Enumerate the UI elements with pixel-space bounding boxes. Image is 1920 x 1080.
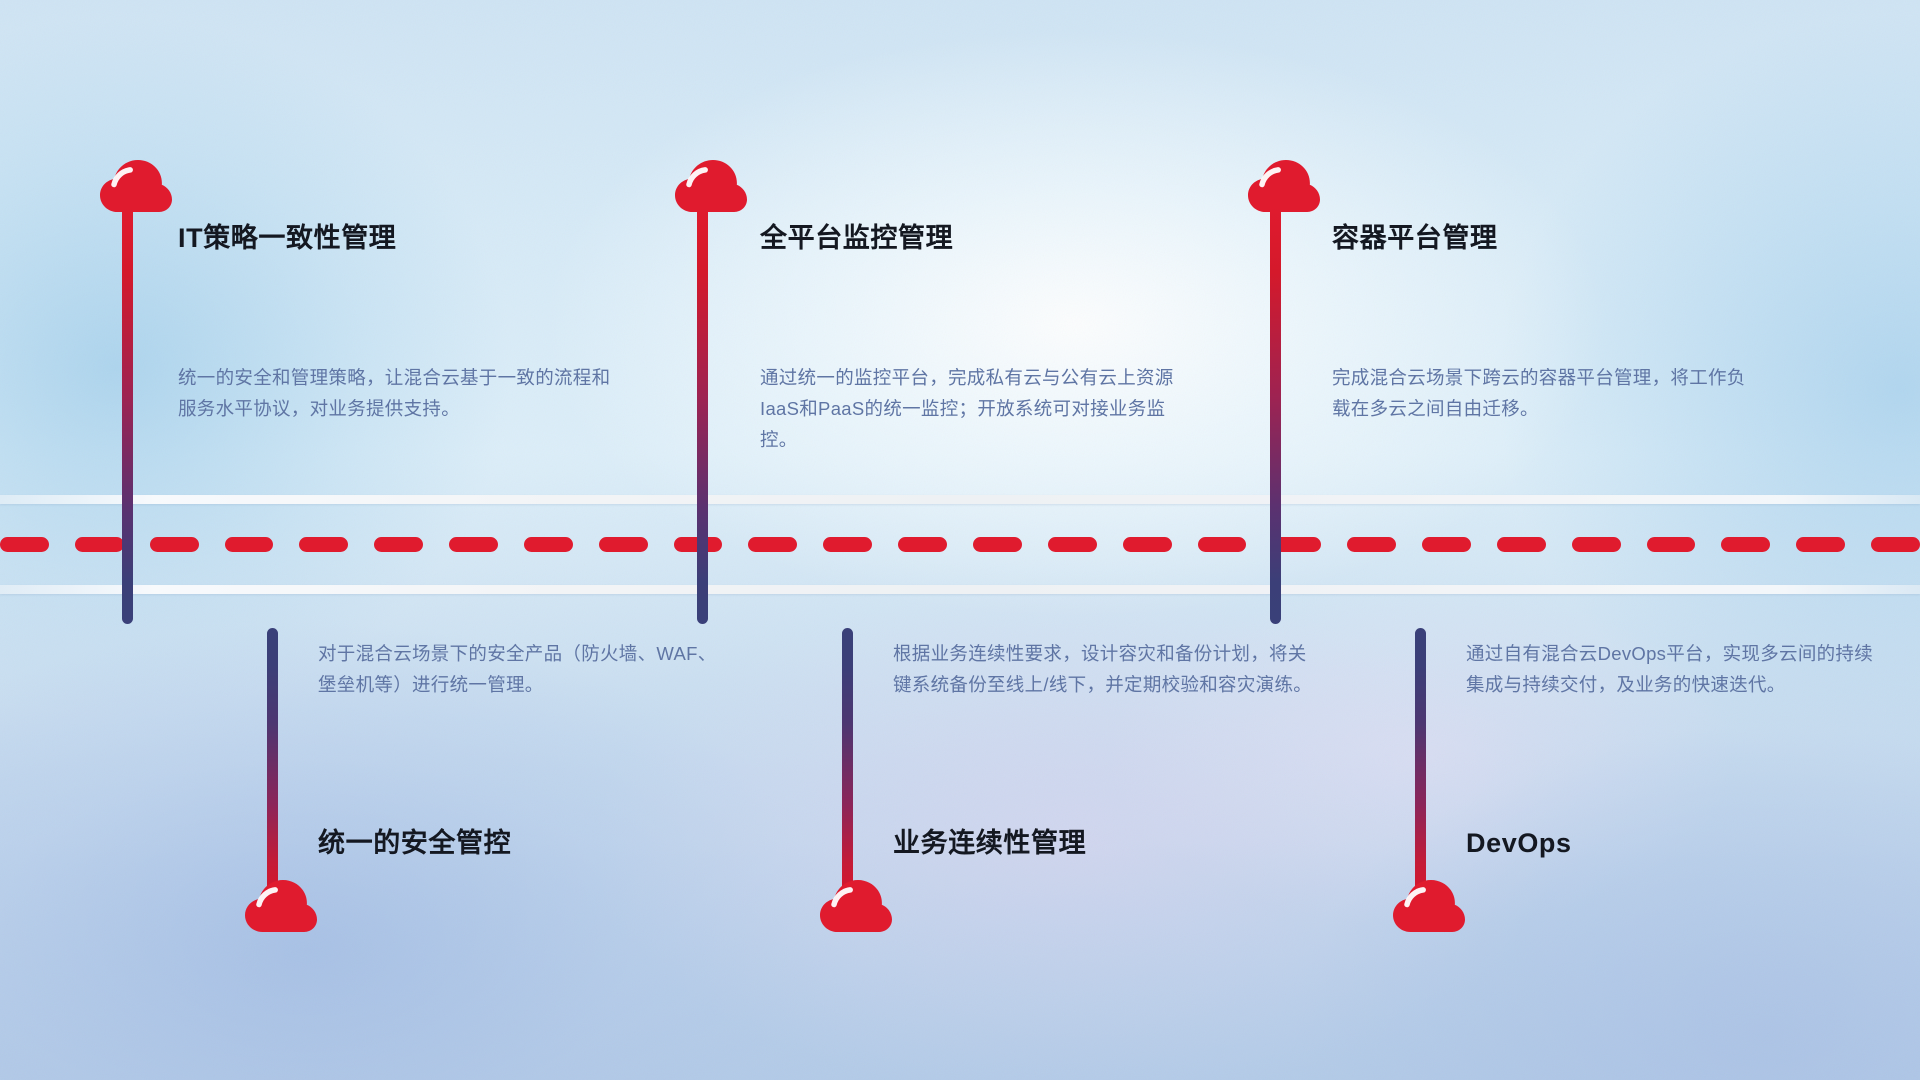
heading-top-3: 容器平台管理 <box>1332 222 1498 254</box>
heading-bottom-1: 统一的安全管控 <box>318 827 511 859</box>
road-dash-segment <box>524 537 573 552</box>
road-dash-segment <box>973 537 1022 552</box>
road-dash-segment <box>1572 537 1621 552</box>
road-dash-segment <box>1647 537 1696 552</box>
road-dash-segment <box>1721 537 1770 552</box>
road-dash-segment <box>225 537 274 552</box>
marker-stem <box>1415 628 1426 896</box>
road-dash-segment <box>449 537 498 552</box>
body-bottom-3: 通过自有混合云DevOps平台，实现多云间的持续集成与持续交付，及业务的快速迭代… <box>1466 638 1874 700</box>
road-dash-segment <box>1048 537 1097 552</box>
road-dash-segment <box>1123 537 1172 552</box>
marker-stem <box>1270 206 1281 624</box>
road-dash-segment <box>1422 537 1471 552</box>
road-dash-segment <box>1198 537 1247 552</box>
marker-stem <box>267 628 278 896</box>
road-dash-segment <box>1497 537 1546 552</box>
body-bottom-2: 根据业务连续性要求，设计容灾和备份计划，将关键系统备份至线上/线下，并定期校验和… <box>893 638 1313 700</box>
body-bottom-1: 对于混合云场景下的安全产品（防火墙、WAF、堡垒机等）进行统一管理。 <box>318 638 728 700</box>
cloud-marker-icon <box>1248 160 1320 218</box>
marker-stem <box>697 206 708 624</box>
infographic-canvas: IT策略一致性管理 统一的安全和管理策略，让混合云基于一致的流程和服务水平协议，… <box>0 0 1920 1080</box>
road-dash-segment <box>75 537 124 552</box>
marker-stem <box>842 628 853 896</box>
road-dash-segment <box>748 537 797 552</box>
heading-top-2: 全平台监控管理 <box>760 222 953 254</box>
road-edge-line-bottom <box>0 585 1920 594</box>
road-dash-segment <box>1347 537 1396 552</box>
road-dash-segment <box>374 537 423 552</box>
road-dash-segment <box>1796 537 1845 552</box>
road-dash-segment <box>299 537 348 552</box>
heading-bottom-3: DevOps <box>1466 827 1572 859</box>
heading-top-1: IT策略一致性管理 <box>178 222 396 254</box>
cloud-marker-icon <box>675 160 747 218</box>
road-dash-segment <box>0 537 49 552</box>
body-top-2: 通过统一的监控平台，完成私有云与公有云上资源IaaS和PaaS的统一监控；开放系… <box>760 362 1202 455</box>
road-dash-segment <box>1871 537 1920 552</box>
heading-bottom-2: 业务连续性管理 <box>893 827 1086 859</box>
cloud-marker-icon <box>820 880 892 938</box>
road-dash-segment <box>599 537 648 552</box>
body-top-3: 完成混合云场景下跨云的容器平台管理，将工作负载在多云之间自由迁移。 <box>1332 362 1752 424</box>
road-dash-segment <box>823 537 872 552</box>
cloud-marker-icon <box>1393 880 1465 938</box>
road-dash-segment <box>898 537 947 552</box>
cloud-marker-icon <box>245 880 317 938</box>
marker-stem <box>122 206 133 624</box>
cloud-marker-icon <box>100 160 172 218</box>
road-edge-line-top <box>0 495 1920 504</box>
road-dash-segment <box>150 537 199 552</box>
body-top-1: 统一的安全和管理策略，让混合云基于一致的流程和服务水平协议，对业务提供支持。 <box>178 362 616 424</box>
road-dashed-center-line <box>0 537 1920 552</box>
